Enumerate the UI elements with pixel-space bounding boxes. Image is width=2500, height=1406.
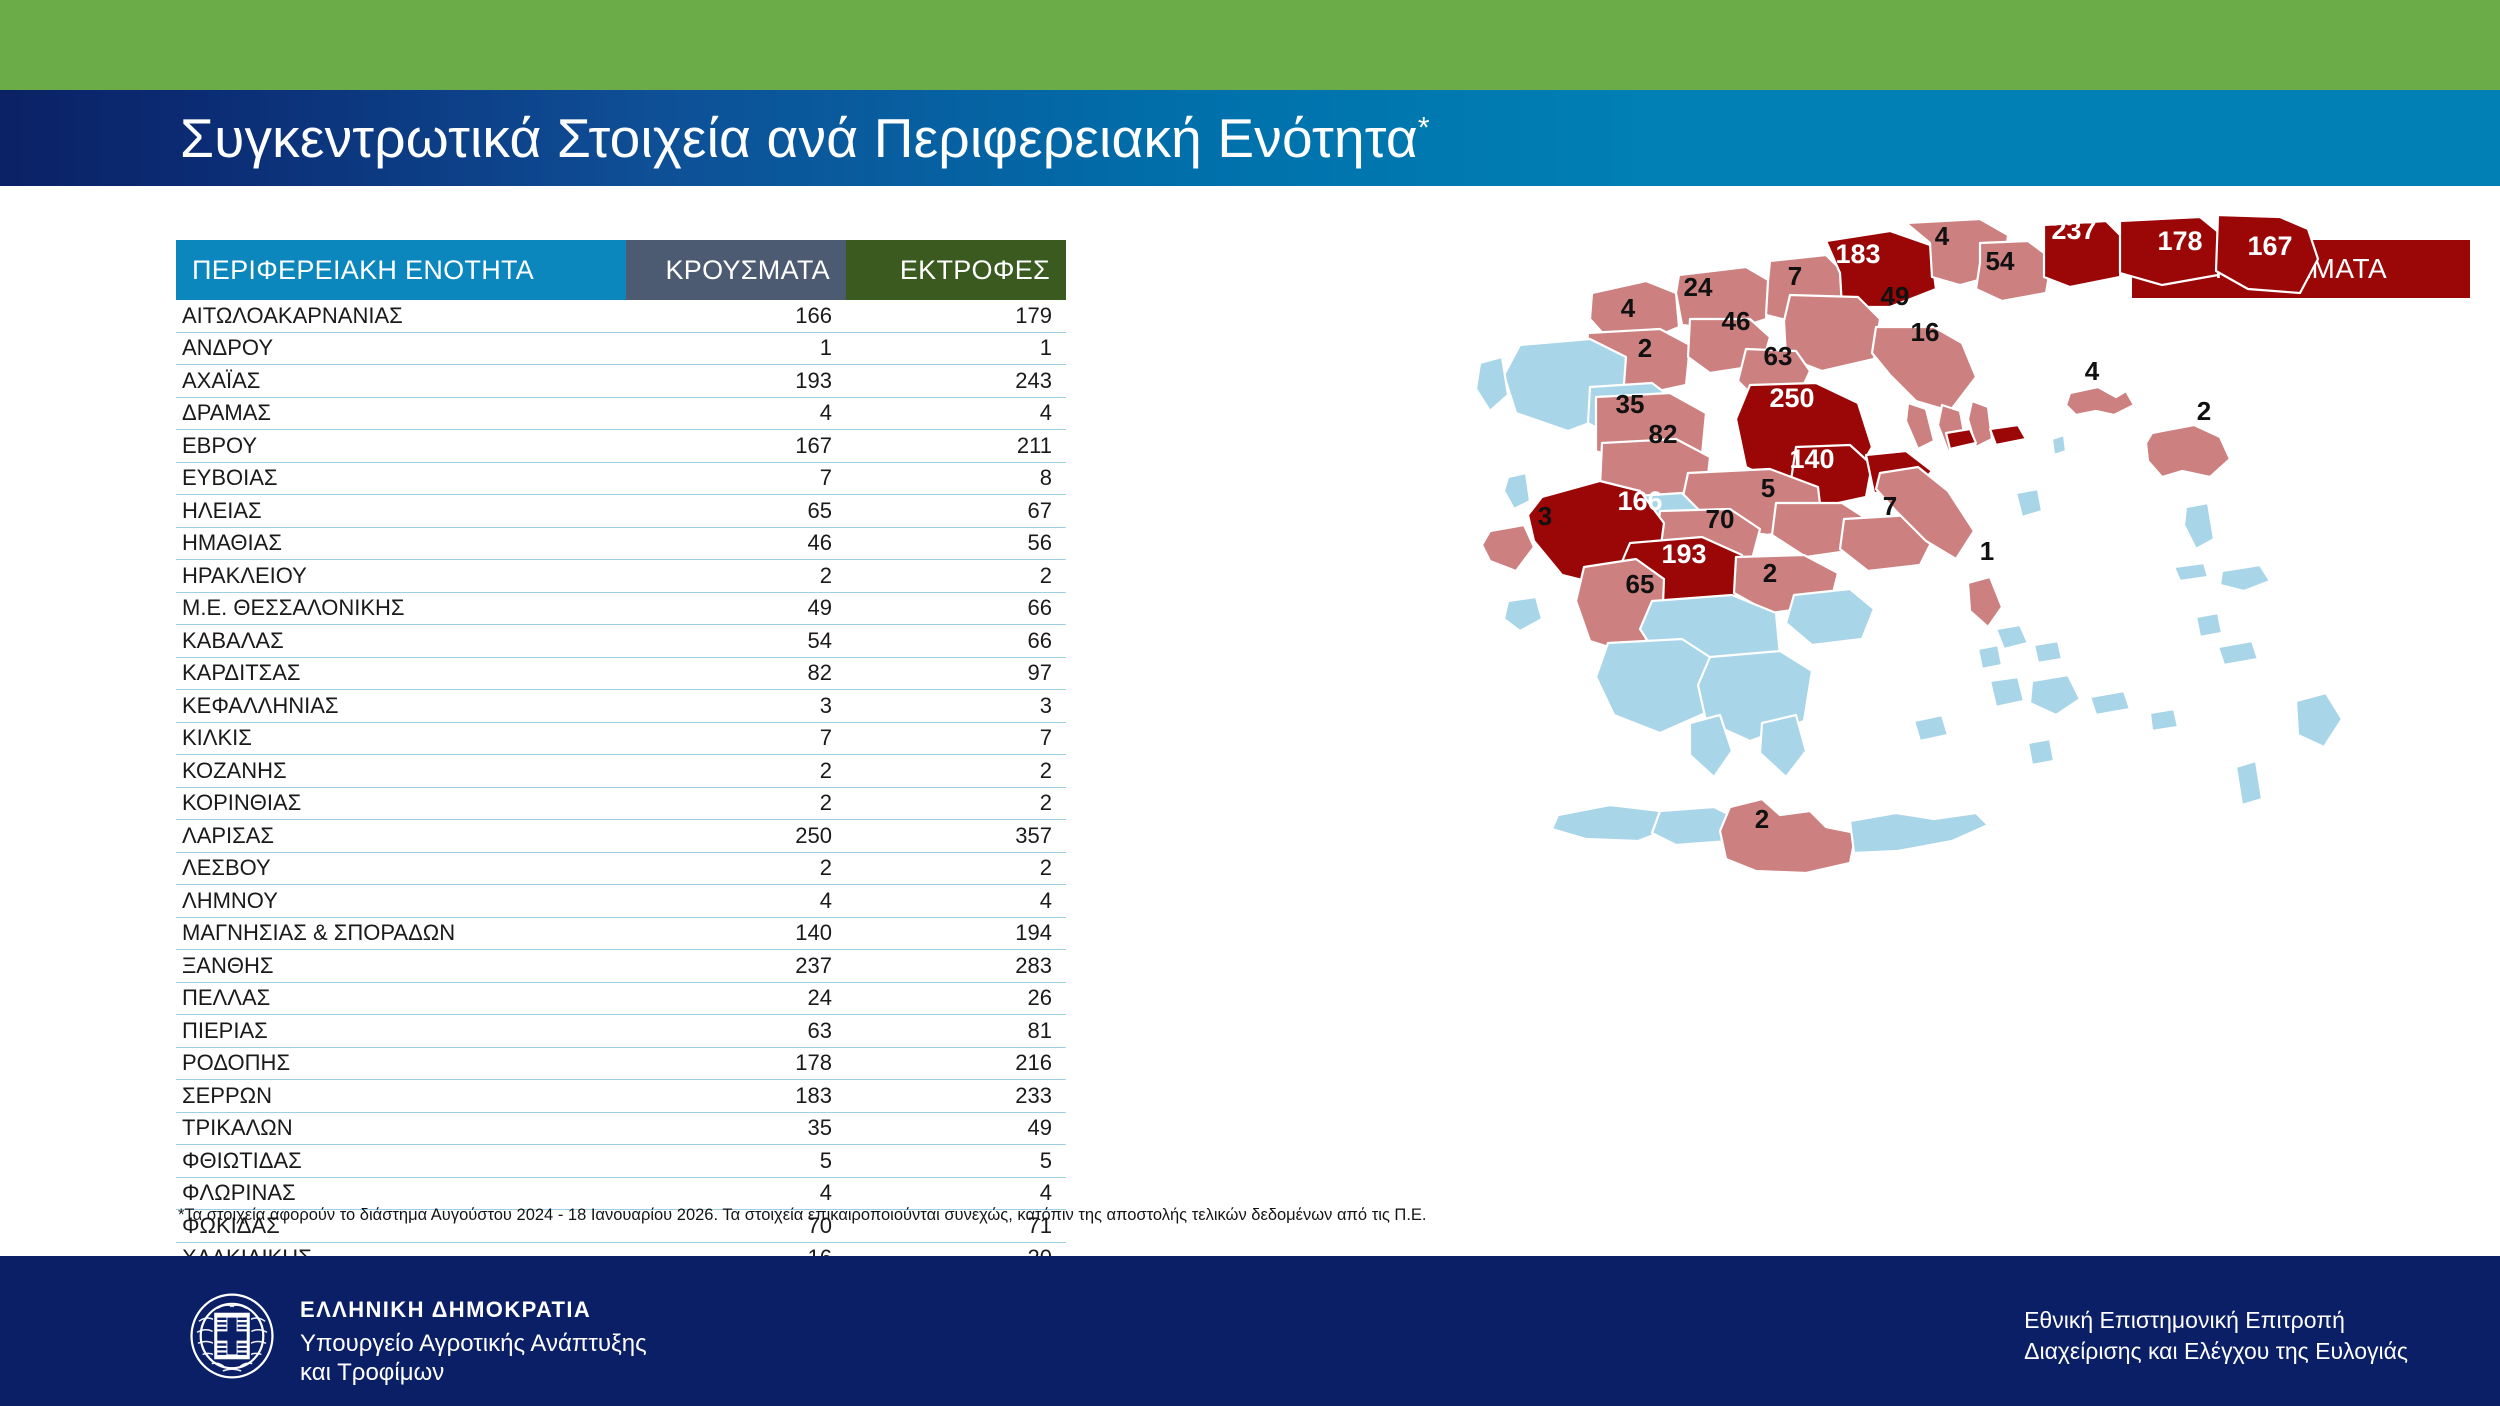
cell-region-name: Μ.Ε. ΘΕΣΣΑΛΟΝΙΚΗΣ: [176, 592, 626, 625]
map-regions: [1476, 215, 2342, 873]
table-row: ΑΙΤΩΛΟΑΚΑΡΝΑΝΙΑΣ166179: [176, 300, 1066, 332]
table-row: ΚΑΒΑΛΑΣ5466: [176, 625, 1066, 658]
summary-table-wrapper: ΠΕΡΙΦΕΡΕΙΑΚΗ ΕΝΟΤΗΤΑ ΚΡΟΥΣΜΑΤΑ ΕΚΤΡΟΦΕΣ …: [176, 240, 1066, 1345]
cell-region-name: ΛΕΣΒΟΥ: [176, 852, 626, 885]
page-title-text: Συγκεντρωτικά Στοιχεία ανά Περιφερειακή …: [180, 107, 1418, 169]
map-label-value: 1: [1980, 536, 1994, 566]
table-row: ΣΕΡΡΩΝ183233: [176, 1080, 1066, 1113]
table-row: Μ.Ε. ΘΕΣΣΑΛΟΝΙΚΗΣ4966: [176, 592, 1066, 625]
map-label-value: 24: [1684, 272, 1713, 302]
map-label-value: 3: [1538, 501, 1552, 531]
cell-cases-value: 4: [626, 1177, 846, 1210]
region-kefallinia: [1482, 525, 1534, 571]
cell-culls-value: 2: [846, 787, 1066, 820]
map-label-value: 166: [1617, 486, 1662, 516]
cell-culls-value: 5: [846, 1145, 1066, 1178]
cell-culls-value: 283: [846, 950, 1066, 983]
cell-cases-value: 46: [626, 527, 846, 560]
cell-cases-value: 140: [626, 917, 846, 950]
map-label-value: 49: [1881, 281, 1910, 311]
map-label-value: 2: [1755, 804, 1769, 834]
map-label-value: 237: [2051, 215, 2096, 245]
cell-cases-value: 2: [626, 787, 846, 820]
summary-table: ΠΕΡΙΦΕΡΕΙΑΚΗ ΕΝΟΤΗΤΑ ΚΡΟΥΣΜΑΤΑ ΕΚΤΡΟΦΕΣ …: [176, 240, 1066, 1275]
map-label-value: 4: [1935, 221, 1950, 251]
cell-region-name: ΚΙΛΚΙΣ: [176, 722, 626, 755]
region-paros: [1990, 677, 2024, 707]
greece-choropleth-map: 4237178167183547244944616263435250282140…: [1190, 215, 2490, 1215]
cell-cases-value: 54: [626, 625, 846, 658]
cell-cases-value: 2: [626, 852, 846, 885]
map-label-value: 4: [2085, 356, 2100, 386]
cell-cases-value: 1: [626, 332, 846, 365]
region-naxos: [2030, 675, 2080, 715]
table-row: ΗΡΑΚΛΕΙΟΥ22: [176, 560, 1066, 593]
cell-cases-value: 7: [626, 722, 846, 755]
cell-cases-value: 178: [626, 1047, 846, 1080]
table-header-row: ΠΕΡΙΦΕΡΕΙΑΚΗ ΕΝΟΤΗΤΑ ΚΡΟΥΣΜΑΤΑ ΕΚΤΡΟΦΕΣ: [176, 240, 1066, 300]
cell-region-name: ΜΑΓΝΗΣΙΑΣ & ΣΠΟΡΑΔΩΝ: [176, 917, 626, 950]
cell-culls-value: 4: [846, 885, 1066, 918]
cell-region-name: ΠΕΛΛΑΣ: [176, 982, 626, 1015]
region-ikaria: [2174, 563, 2208, 581]
cell-cases-value: 5: [626, 1145, 846, 1178]
region-astypalaia: [2150, 709, 2178, 731]
top-green-band: [0, 0, 2500, 90]
footer-committee-line1: Εθνική Επιστημονική Επιτροπή: [2024, 1305, 2408, 1336]
region-milos: [1914, 715, 1948, 741]
footer-ministry-line2: και Τροφίμων: [300, 1358, 647, 1387]
region-tinos: [1996, 625, 2028, 649]
cell-region-name: ΤΡΙΚΑΛΩΝ: [176, 1112, 626, 1145]
map-label-value: 2: [2197, 396, 2211, 426]
cell-region-name: ΚΑΡΔΙΤΣΑΣ: [176, 657, 626, 690]
map-label-value: 183: [1835, 239, 1880, 269]
cell-culls-value: 49: [846, 1112, 1066, 1145]
cell-cases-value: 49: [626, 592, 846, 625]
cell-culls-value: 4: [846, 397, 1066, 430]
cell-cases-value: 2: [626, 755, 846, 788]
cell-cases-value: 4: [626, 885, 846, 918]
table-row: ΦΛΩΡΙΝΑΣ44: [176, 1177, 1066, 1210]
region-limnos: [2066, 387, 2134, 415]
region-agios-efstratios: [2052, 435, 2066, 455]
table-row: ΗΛΕΙΑΣ6567: [176, 495, 1066, 528]
cell-region-name: ΚΟΖΑΝΗΣ: [176, 755, 626, 788]
table-row: ΠΙΕΡΙΑΣ6381: [176, 1015, 1066, 1048]
cell-region-name: ΗΡΑΚΛΕΙΟΥ: [176, 560, 626, 593]
cell-culls-value: 2: [846, 755, 1066, 788]
cell-region-name: ΕΒΡΟΥ: [176, 430, 626, 463]
cell-culls-value: 97: [846, 657, 1066, 690]
table-row: ΛΕΣΒΟΥ22: [176, 852, 1066, 885]
table-row: ΜΑΓΝΗΣΙΑΣ & ΣΠΟΡΑΔΩΝ140194: [176, 917, 1066, 950]
cell-culls-value: 233: [846, 1080, 1066, 1113]
cell-region-name: ΛΗΜΝΟΥ: [176, 885, 626, 918]
region-sporades2: [1990, 425, 2026, 445]
cell-cases-value: 35: [626, 1112, 846, 1145]
map-label-value: 7: [1883, 491, 1897, 521]
table-row: ΑΝΔΡΟΥ11: [176, 332, 1066, 365]
map-label-value: 65: [1626, 569, 1655, 599]
region-sporades1: [1946, 429, 1976, 449]
map-label-value: 46: [1722, 306, 1751, 336]
cell-cases-value: 82: [626, 657, 846, 690]
cell-region-name: ΣΕΡΡΩΝ: [176, 1080, 626, 1113]
cell-cases-value: 2: [626, 560, 846, 593]
cell-region-name: ΡΟΔΟΠΗΣ: [176, 1047, 626, 1080]
page-title-asterisk: *: [1418, 112, 1430, 145]
cell-cases-value: 7: [626, 462, 846, 495]
cell-culls-value: 67: [846, 495, 1066, 528]
column-header-cases: ΚΡΟΥΣΜΑΤΑ: [626, 240, 846, 300]
map-label-value: 2: [1763, 558, 1777, 588]
region-lesvos: [2146, 425, 2230, 477]
region-syros: [1978, 645, 2002, 669]
cell-culls-value: 179: [846, 300, 1066, 332]
cell-culls-value: 194: [846, 917, 1066, 950]
map-label-value: 82: [1649, 419, 1678, 449]
cell-region-name: ΚΑΒΑΛΑΣ: [176, 625, 626, 658]
region-kerkyra: [1476, 357, 1508, 411]
cell-region-name: ΛΑΡΙΣΑΣ: [176, 820, 626, 853]
map-label-value: 7: [1788, 261, 1802, 291]
cell-region-name: ΗΛΕΙΑΣ: [176, 495, 626, 528]
region-kalymnos: [2196, 613, 2222, 637]
table-row: ΚΑΡΔΙΤΣΑΣ8297: [176, 657, 1066, 690]
map-label-value: 5: [1761, 473, 1775, 503]
region-amorgos: [2090, 691, 2130, 715]
table-row: ΗΜΑΘΙΑΣ4656: [176, 527, 1066, 560]
cell-region-name: ΠΙΕΡΙΑΣ: [176, 1015, 626, 1048]
cell-cases-value: 166: [626, 300, 846, 332]
hellenic-republic-crest-icon: [186, 1290, 278, 1382]
region-lefkada: [1504, 473, 1530, 509]
footer-republic-label: ΕΛΛΗΝΙΚΗ ΔΗΜΟΚΡΑΤΙΑ: [300, 1297, 647, 1323]
cell-culls-value: 66: [846, 592, 1066, 625]
cell-cases-value: 167: [626, 430, 846, 463]
region-santorini: [2028, 739, 2054, 765]
cell-culls-value: 2: [846, 852, 1066, 885]
region-rodos: [2296, 693, 2342, 747]
cell-culls-value: 56: [846, 527, 1066, 560]
cell-culls-value: 216: [846, 1047, 1066, 1080]
map-label-value: 16: [1911, 317, 1940, 347]
map-label-value: 70: [1706, 504, 1735, 534]
map-label-value: 4: [1621, 293, 1636, 323]
cell-culls-value: 7: [846, 722, 1066, 755]
cell-region-name: ΦΘΙΩΤΙΔΑΣ: [176, 1145, 626, 1178]
cell-region-name: ΚΕΦΑΛΛΗΝΙΑΣ: [176, 690, 626, 723]
region-chalkidiki-leg1: [1906, 403, 1934, 449]
table-row: ΔΡΑΜΑΣ44: [176, 397, 1066, 430]
map-label-value: 35: [1616, 389, 1645, 419]
cell-cases-value: 183: [626, 1080, 846, 1113]
cell-culls-value: 1: [846, 332, 1066, 365]
cell-culls-value: 3: [846, 690, 1066, 723]
map-svg: 4237178167183547244944616263435250282140…: [1190, 215, 2490, 1215]
region-andros: [1968, 577, 2002, 627]
table-row: ΡΟΔΟΠΗΣ178216: [176, 1047, 1066, 1080]
cell-culls-value: 66: [846, 625, 1066, 658]
cell-culls-value: 2: [846, 560, 1066, 593]
cell-culls-value: 81: [846, 1015, 1066, 1048]
table-row: ΚΙΛΚΙΣ77: [176, 722, 1066, 755]
cell-culls-value: 26: [846, 982, 1066, 1015]
table-row: ΕΒΡΟΥ167211: [176, 430, 1066, 463]
region-samos: [2220, 565, 2270, 591]
map-label-value: 178: [2157, 226, 2202, 256]
table-row: ΞΑΝΘΗΣ237283: [176, 950, 1066, 983]
region-lakonia-cape: [1760, 715, 1806, 777]
map-label-value: 54: [1986, 246, 2015, 276]
map-label-value: 193: [1661, 539, 1706, 569]
column-header-culls: ΕΚΤΡΟΦΕΣ: [846, 240, 1066, 300]
table-header: ΠΕΡΙΦΕΡΕΙΑΚΗ ΕΝΟΤΗΤΑ ΚΡΟΥΣΜΑΤΑ ΕΚΤΡΟΦΕΣ: [176, 240, 1066, 300]
table-body: ΑΙΤΩΛΟΑΚΑΡΝΑΝΙΑΣ166179ΑΝΔΡΟΥ11ΑΧΑΪΑΣ1932…: [176, 300, 1066, 1275]
table-row: ΚΟΡΙΝΘΙΑΣ22: [176, 787, 1066, 820]
cell-region-name: ΚΟΡΙΝΘΙΑΣ: [176, 787, 626, 820]
map-label-value: 167: [2247, 231, 2292, 261]
footer-ministry-line1: Υπουργείο Αγροτικής Ανάπτυξης: [300, 1329, 647, 1358]
map-label-value: 140: [1789, 444, 1834, 474]
region-skyros: [2016, 489, 2042, 517]
cell-region-name: ΗΜΑΘΙΑΣ: [176, 527, 626, 560]
cell-culls-value: 211: [846, 430, 1066, 463]
cell-culls-value: 357: [846, 820, 1066, 853]
region-mykonos: [2034, 641, 2062, 663]
cell-cases-value: 4: [626, 397, 846, 430]
region-zakynthos: [1504, 597, 1542, 631]
cell-cases-value: 193: [626, 365, 846, 398]
region-lasithi: [1850, 813, 1988, 853]
cell-cases-value: 63: [626, 1015, 846, 1048]
table-row: ΛΑΡΙΣΑΣ250357: [176, 820, 1066, 853]
page-title: Συγκεντρωτικά Στοιχεία ανά Περιφερειακή …: [180, 90, 1430, 186]
cell-region-name: ΑΧΑΪΑΣ: [176, 365, 626, 398]
cell-region-name: ΑΙΤΩΛΟΑΚΑΡΝΑΝΙΑΣ: [176, 300, 626, 332]
map-label-value: 2: [1638, 333, 1652, 363]
table-row: ΑΧΑΪΑΣ193243: [176, 365, 1066, 398]
cell-culls-value: 8: [846, 462, 1066, 495]
cell-region-name: ΞΑΝΘΗΣ: [176, 950, 626, 983]
cell-region-name: ΔΡΑΜΑΣ: [176, 397, 626, 430]
table-row: ΠΕΛΛΑΣ2426: [176, 982, 1066, 1015]
footer-committee-block: Εθνική Επιστημονική Επιτροπή Διαχείρισης…: [2024, 1305, 2408, 1367]
cell-cases-value: 24: [626, 982, 846, 1015]
cell-culls-value: 4: [846, 1177, 1066, 1210]
table-row: ΛΗΜΝΟΥ44: [176, 885, 1066, 918]
cell-region-name: ΑΝΔΡΟΥ: [176, 332, 626, 365]
cell-culls-value: 243: [846, 365, 1066, 398]
cell-cases-value: 250: [626, 820, 846, 853]
region-argolida: [1786, 589, 1874, 645]
cell-region-name: ΦΛΩΡΙΝΑΣ: [176, 1177, 626, 1210]
cell-cases-value: 3: [626, 690, 846, 723]
column-header-region: ΠΕΡΙΦΕΡΕΙΑΚΗ ΕΝΟΤΗΤΑ: [176, 240, 626, 300]
map-label-value: 63: [1764, 341, 1793, 371]
region-karpathos: [2236, 761, 2262, 805]
table-row: ΤΡΙΚΑΛΩΝ3549: [176, 1112, 1066, 1145]
footer-committee-line2: Διαχείρισης και Ελέγχου της Ευλογιάς: [2024, 1336, 2408, 1367]
cell-region-name: ΕΥΒΟΙΑΣ: [176, 462, 626, 495]
footer-ministry-block: ΕΛΛΗΝΙΚΗ ΔΗΜΟΚΡΑΤΙΑ Υπουργείο Αγροτικής …: [300, 1297, 647, 1388]
table-row: ΚΕΦΑΛΛΗΝΙΑΣ33: [176, 690, 1066, 723]
map-label-value: 250: [1769, 383, 1814, 413]
region-irakleio: [1720, 799, 1856, 873]
region-chios: [2184, 503, 2214, 549]
table-row: ΦΘΙΩΤΙΔΑΣ55: [176, 1145, 1066, 1178]
table-row: ΕΥΒΟΙΑΣ78: [176, 462, 1066, 495]
table-row: ΚΟΖΑΝΗΣ22: [176, 755, 1066, 788]
region-kos: [2218, 641, 2258, 665]
cell-cases-value: 237: [626, 950, 846, 983]
cell-cases-value: 65: [626, 495, 846, 528]
